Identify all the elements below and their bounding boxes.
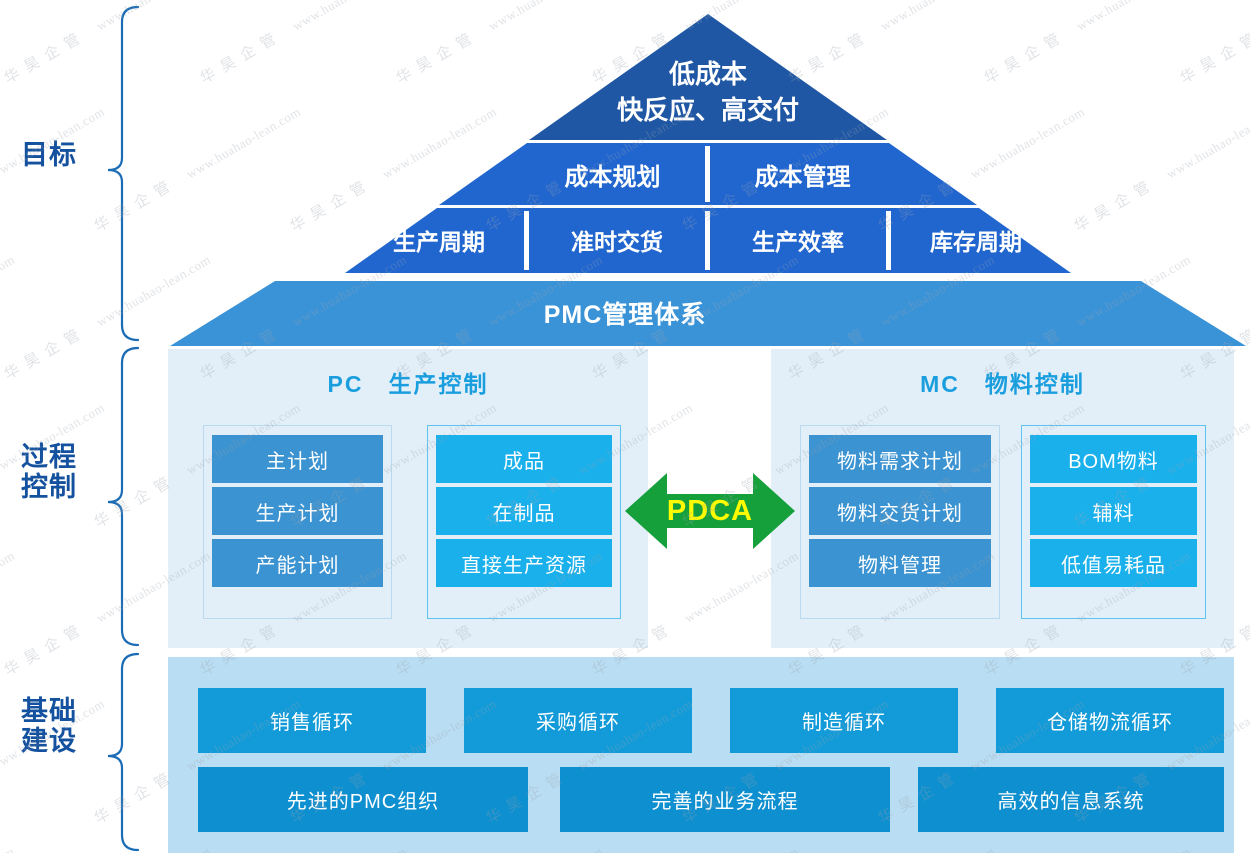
tier2-label-1: 成本管理 [755,157,851,192]
pc-right-cell-2[interactable]: 直接生产资源 [436,539,612,587]
pc-left-label-2: 产能计划 [256,549,340,578]
tier3-label-2: 生产效率 [752,223,844,257]
tier3-label-0: 生产周期 [393,223,485,257]
roof-tier3-cell-0[interactable]: 生产周期 [355,214,523,266]
roof-tier2-cell-0[interactable]: 成本规划 [520,148,705,200]
roof-tier3-cell-2[interactable]: 生产效率 [711,214,885,266]
mc-right-cell-1[interactable]: 辅料 [1030,487,1197,535]
pdca-arrow-label: PDCA [625,495,795,528]
pc-left-cell-0[interactable]: 主计划 [212,435,383,483]
foundation-panel: 销售循环 采购循环 制造循环 仓储物流循环 先进的PMC组织 完善的业务流程 高… [168,657,1234,853]
mc-right-cell-0[interactable]: BOM物料 [1030,435,1197,483]
tier2-label-0: 成本规划 [565,157,661,192]
mc-left-label-1: 物料交货计划 [837,497,963,526]
pc-right-label-2: 直接生产资源 [461,549,587,578]
pc-left-cell-1[interactable]: 生产计划 [212,487,383,535]
tier3-divider-2 [705,211,710,270]
foundation-row1-box-0[interactable]: 销售循环 [198,688,426,753]
foundation-row1-box-2[interactable]: 制造循环 [730,688,958,753]
foundation-row2-box-0[interactable]: 先进的PMC组织 [198,767,528,832]
mc-group-right: BOM物料 辅料 低值易耗品 [1021,425,1206,619]
pc-right-label-0: 成品 [503,445,545,474]
tier3-divider-1 [524,211,529,270]
pmc-band-label: PMC管理体系 [0,295,1250,331]
roof-tier2-cell-1[interactable]: 成本管理 [710,148,895,200]
pc-right-cell-0[interactable]: 成品 [436,435,612,483]
brace-goal [108,7,138,340]
pc-group-right: 成品 在制品 直接生产资源 [427,425,621,619]
foundation-row1-label-3: 仓储物流循环 [1047,706,1173,735]
apex-line-1: 低成本 [669,56,747,92]
pc-left-label-1: 生产计划 [256,497,340,526]
brace-foundation [108,654,138,850]
mc-left-label-2: 物料管理 [858,549,942,578]
brace-process [108,348,138,645]
foundation-row1-label-0: 销售循环 [270,706,354,735]
mc-left-cell-2[interactable]: 物料管理 [809,539,991,587]
pc-group-left: 主计划 生产计划 产能计划 [203,425,392,619]
mc-left-cell-0[interactable]: 物料需求计划 [809,435,991,483]
mc-panel: MC 物料控制 物料需求计划 物料交货计划 物料管理 BOM物料 辅料 低值易耗… [771,349,1234,648]
mc-panel-title: MC 物料控制 [771,365,1234,399]
pc-left-cell-2[interactable]: 产能计划 [212,539,383,587]
foundation-row1-label-2: 制造循环 [802,706,886,735]
foundation-row2-box-2[interactable]: 高效的信息系统 [918,767,1224,832]
mc-right-label-2: 低值易耗品 [1061,549,1166,578]
mc-right-label-0: BOM物料 [1068,445,1159,474]
foundation-row1-box-3[interactable]: 仓储物流循环 [996,688,1224,753]
pc-right-cell-1[interactable]: 在制品 [436,487,612,535]
rail-braces [0,0,160,853]
foundation-row1-box-1[interactable]: 采购循环 [464,688,692,753]
pc-left-label-0: 主计划 [266,445,329,474]
pc-right-label-1: 在制品 [493,497,556,526]
foundation-row1-label-1: 采购循环 [536,706,620,735]
foundation-row2-label-1: 完善的业务流程 [652,785,799,814]
roof-apex-text: 低成本 快反应、高交付 [529,46,887,138]
tier3-label-3: 库存周期 [930,223,1022,257]
tier3-divider-3 [886,211,891,270]
mc-right-label-1: 辅料 [1093,497,1135,526]
apex-line-2: 快反应、高交付 [617,92,799,128]
roof-tier3-cell-1[interactable]: 准时交货 [530,214,704,266]
pc-panel: PC 生产控制 主计划 生产计划 产能计划 成品 在制品 直接生产资源 [168,349,648,648]
foundation-row2-label-0: 先进的PMC组织 [287,785,439,814]
foundation-row2-label-2: 高效的信息系统 [998,785,1145,814]
diagram-canvas: 低成本 快反应、高交付 成本规划 成本管理 生产周期 准时交货 生产效率 库存周… [0,0,1250,853]
mc-left-cell-1[interactable]: 物料交货计划 [809,487,991,535]
pc-panel-title: PC 生产控制 [168,365,648,399]
roof-tier3-cell-3[interactable]: 库存周期 [892,214,1060,266]
mc-group-left: 物料需求计划 物料交货计划 物料管理 [800,425,1000,619]
mc-left-label-0: 物料需求计划 [837,445,963,474]
mc-right-cell-2[interactable]: 低值易耗品 [1030,539,1197,587]
foundation-row2-box-1[interactable]: 完善的业务流程 [560,767,890,832]
tier3-label-1: 准时交货 [571,223,663,257]
